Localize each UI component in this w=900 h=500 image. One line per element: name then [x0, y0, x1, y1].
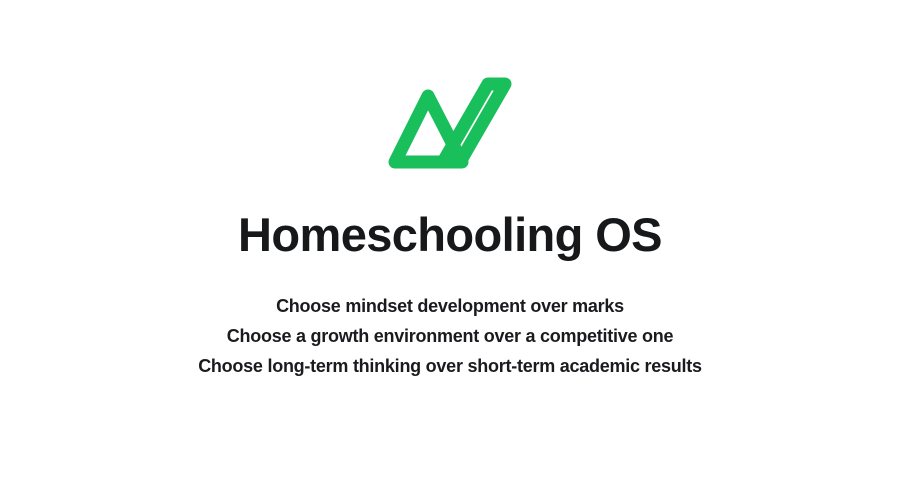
tagline-item: Choose mindset development over marks	[0, 291, 900, 321]
tagline-list: Choose mindset development over marks Ch…	[0, 291, 900, 381]
brand-logo	[0, 72, 900, 176]
page-title: Homeschooling OS	[0, 206, 900, 264]
tagline-item: Choose a growth environment over a compe…	[0, 321, 900, 351]
nova-mark-logo-icon	[387, 74, 513, 174]
tagline-item: Choose long-term thinking over short-ter…	[0, 351, 900, 381]
title-slide: Homeschooling OS Choose mindset developm…	[0, 0, 900, 500]
